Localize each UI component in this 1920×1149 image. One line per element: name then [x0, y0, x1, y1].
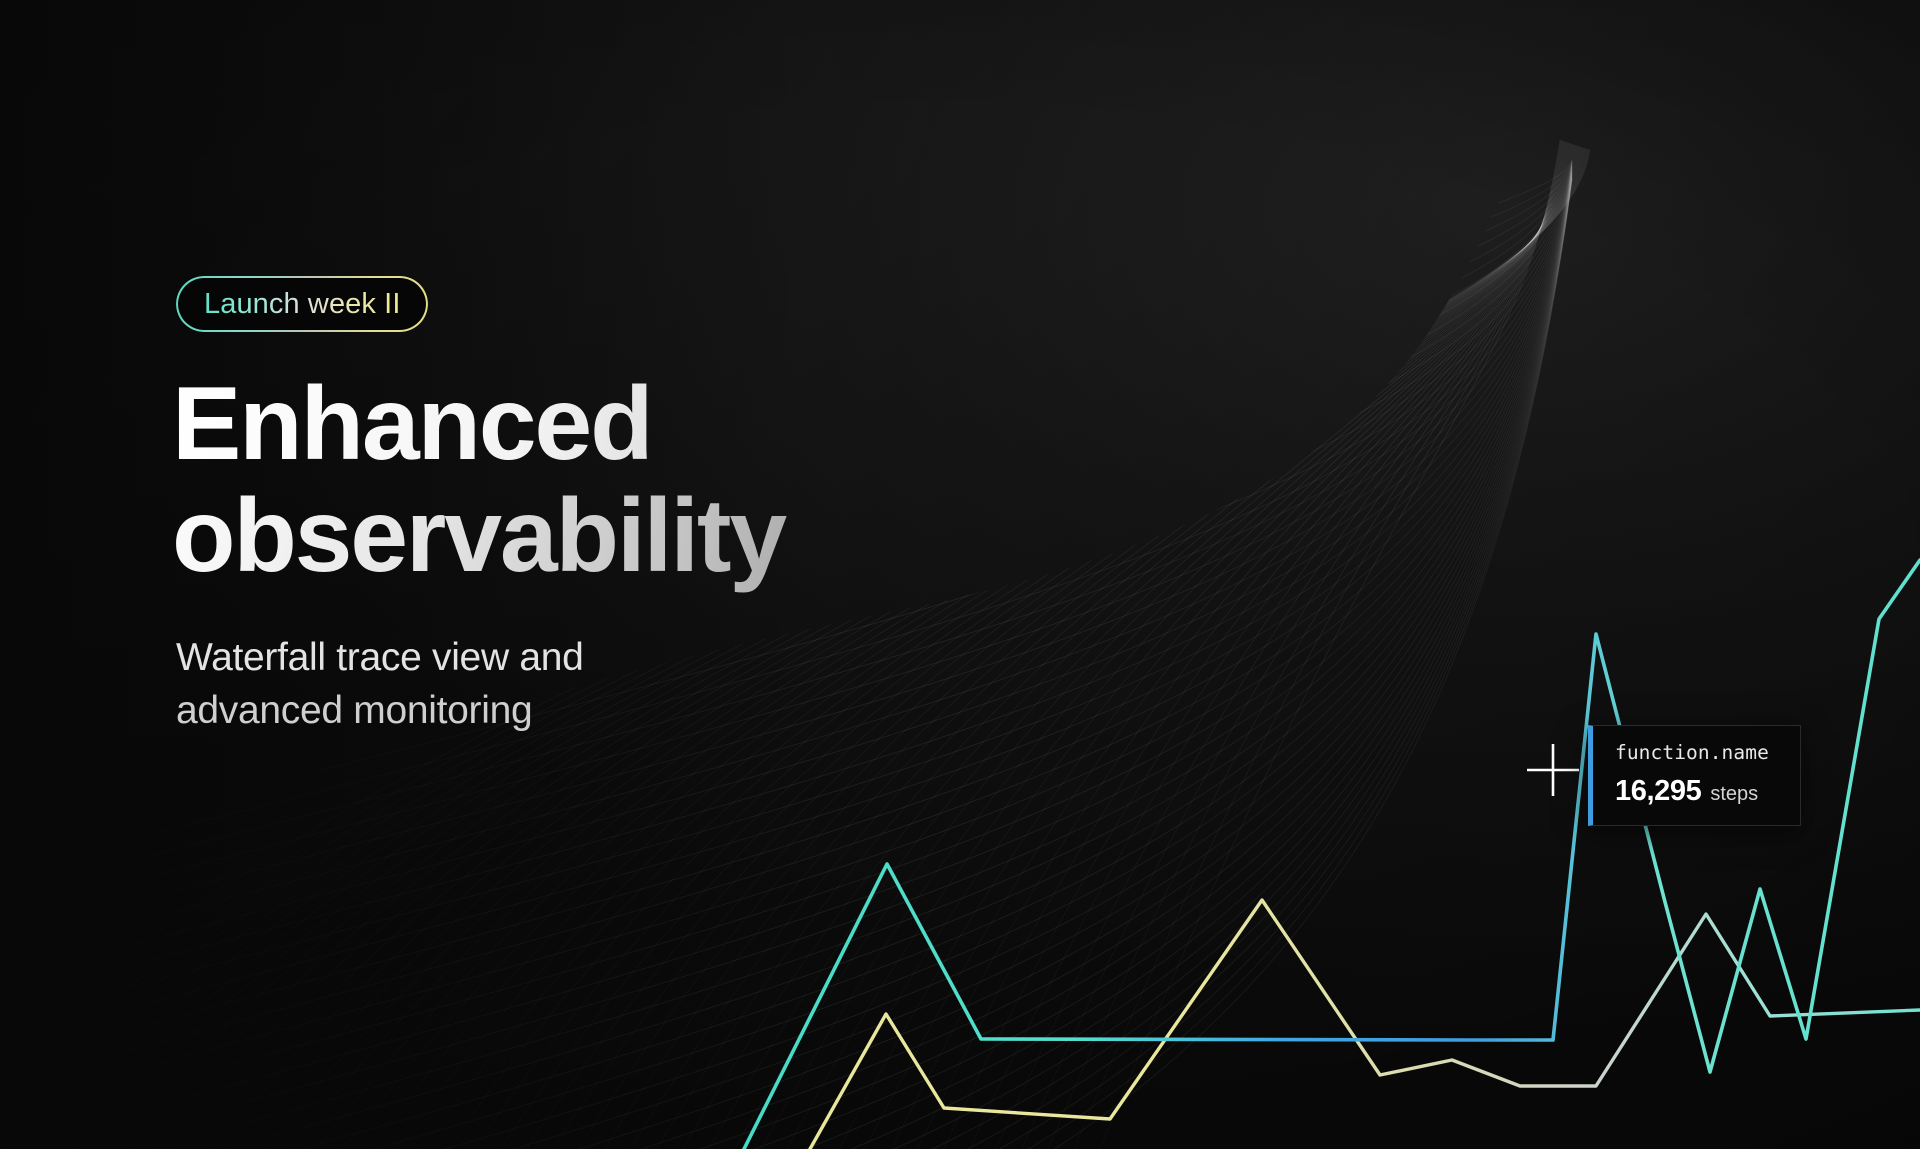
- tooltip-unit: steps: [1710, 784, 1758, 804]
- hero-banner: Launch week II Enhanced observability Wa…: [0, 0, 1920, 1149]
- hero-copy: Launch week II Enhanced observability Wa…: [176, 276, 996, 777]
- page-subtitle-line-1: Waterfall trace view and: [176, 636, 584, 679]
- page-title-line-1: Enhanced: [172, 368, 996, 480]
- page-title: Enhanced observability: [172, 368, 996, 593]
- page-subtitle: Waterfall trace view and advanced monito…: [176, 631, 996, 739]
- page-title-line-2: observability: [172, 480, 996, 592]
- chart-series-yellow: [810, 900, 1920, 1149]
- chart-tooltip: function.name 16,295 steps: [1588, 725, 1801, 826]
- tooltip-value: 16,295: [1615, 777, 1701, 806]
- page-subtitle-line-2: advanced monitoring: [176, 689, 532, 732]
- crosshair-marker: [1527, 744, 1579, 796]
- tooltip-function-name: function.name: [1615, 743, 1800, 763]
- launch-week-badge-label: Launch week II: [204, 290, 400, 319]
- launch-week-badge[interactable]: Launch week II: [176, 276, 428, 332]
- tooltip-value-row: 16,295 steps: [1615, 777, 1800, 806]
